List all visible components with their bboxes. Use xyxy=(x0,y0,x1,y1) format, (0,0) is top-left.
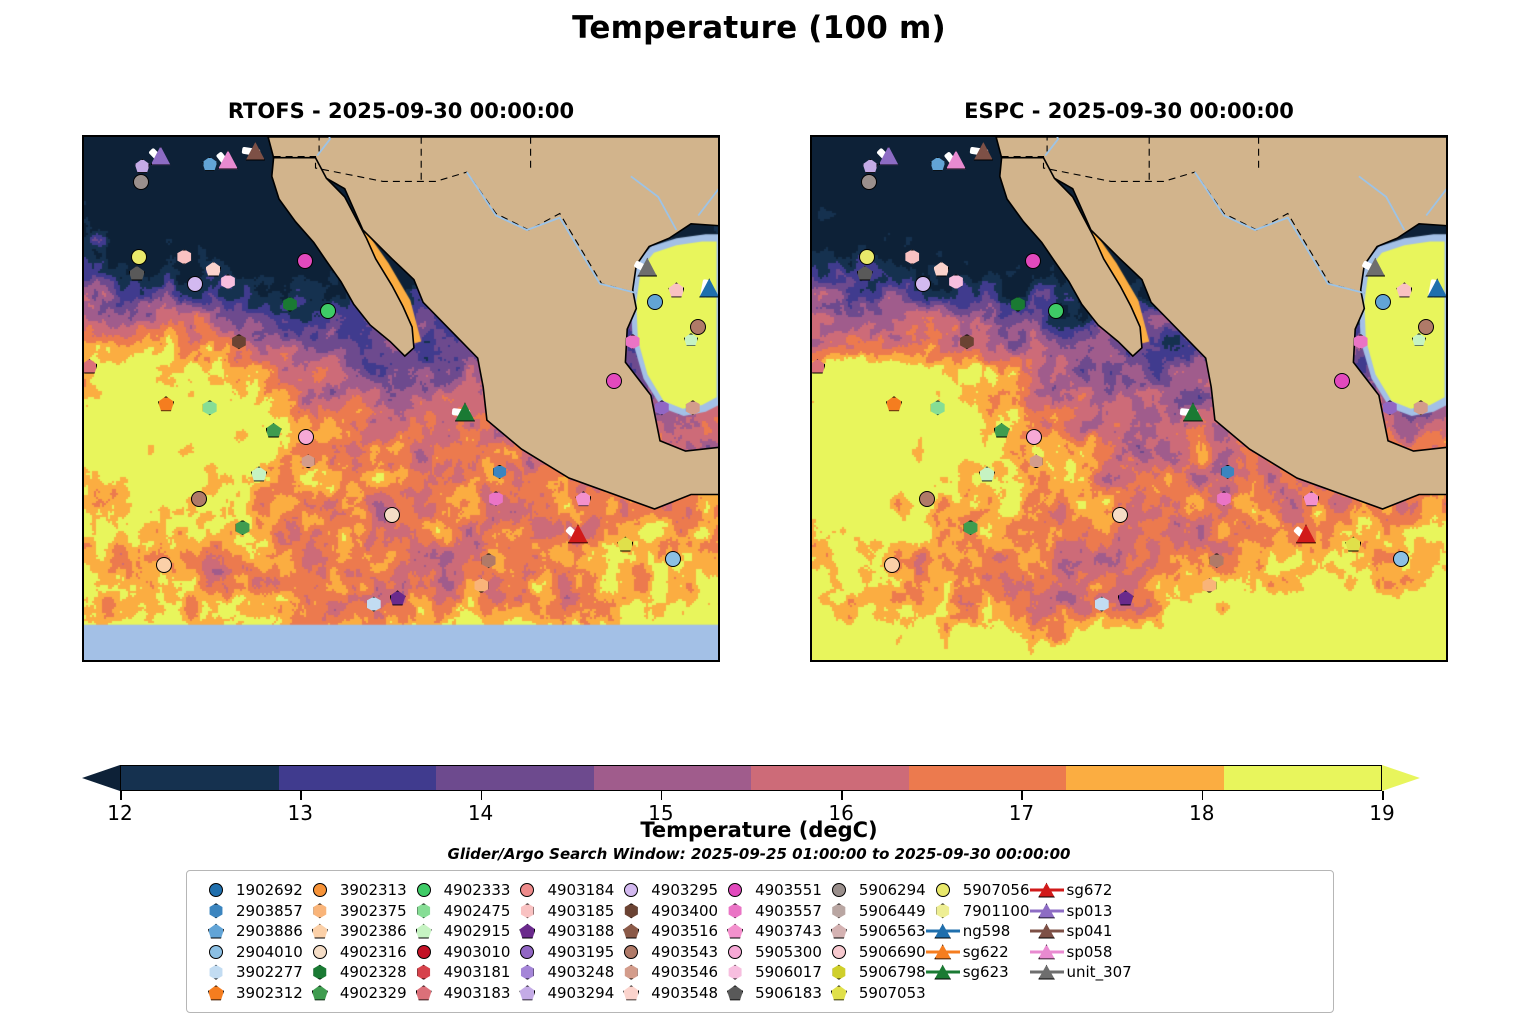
marker-glyph-hex xyxy=(520,903,535,918)
legend-item-sg623[interactable]: sg623 xyxy=(926,962,1030,983)
marker-glyph-circle xyxy=(728,945,742,959)
legend-marker-4903743-icon xyxy=(718,921,752,941)
ytick-minor xyxy=(1446,292,1448,293)
xtick-minor xyxy=(239,135,240,137)
xtick-minor xyxy=(348,660,349,662)
colorbar-over-arrow xyxy=(1382,765,1420,791)
map-marker-5906294[interactable] xyxy=(861,174,877,190)
legend-item-sp041[interactable]: sp041 xyxy=(1030,921,1132,942)
xtick-minor xyxy=(695,660,696,662)
xtick-major xyxy=(585,660,587,662)
ytick-minor xyxy=(1446,478,1448,479)
xtick-major xyxy=(676,660,678,662)
ytick-minor xyxy=(718,540,720,541)
ytick-major xyxy=(82,313,84,315)
xtick-minor xyxy=(985,660,986,662)
legend-label-5906017: 5906017 xyxy=(752,963,822,981)
xtick-minor xyxy=(1386,135,1387,137)
legend-label-4903546: 4903546 xyxy=(648,963,718,981)
legend-item-4902329[interactable]: 4902329 xyxy=(303,983,407,1004)
legend-label-unit_307: unit_307 xyxy=(1064,963,1132,981)
legend-marker-4902328-icon xyxy=(303,962,337,982)
xtick-minor xyxy=(239,660,240,662)
xtick-minor xyxy=(1350,135,1351,137)
xtick-minor xyxy=(1095,135,1096,137)
marker-glyph-hex xyxy=(728,965,743,980)
legend-label-3902313: 3902313 xyxy=(337,881,407,899)
ytick-minor xyxy=(718,168,720,169)
legend-marker-3902375-icon xyxy=(303,901,337,921)
marker-glyph-hex xyxy=(624,965,639,980)
legend-item-4903248[interactable]: 4903248 xyxy=(510,962,614,983)
xtick-minor xyxy=(275,135,276,137)
xtick-minor xyxy=(294,660,295,662)
xtick-minor xyxy=(148,135,149,137)
marker-glyph-pent xyxy=(727,924,743,939)
figure-title: Temperature (100 m) xyxy=(0,10,1518,46)
ytick-minor xyxy=(1446,168,1448,169)
map-marker-4903543b[interactable] xyxy=(690,319,706,335)
xtick-minor xyxy=(604,660,605,662)
legend-item-2904010[interactable]: 2904010 xyxy=(199,942,303,963)
legend-item-4903516[interactable]: 4903516 xyxy=(614,921,718,942)
legend-marker-4903294-icon xyxy=(510,983,544,1003)
xtick-minor xyxy=(894,135,895,137)
legend-label-1902692: 1902692 xyxy=(233,881,303,899)
geography-overlay xyxy=(84,137,718,660)
map-marker-3902386[interactable] xyxy=(884,557,900,573)
legend-item-3902277[interactable]: 3902277 xyxy=(199,962,303,983)
legend-item-5906017[interactable]: 5906017 xyxy=(718,962,822,983)
legend-marker-4903557-icon xyxy=(718,901,752,921)
legend-item-sp013[interactable]: sp013 xyxy=(1030,901,1132,922)
legend-item-5906294[interactable]: 5906294 xyxy=(822,880,926,901)
ytick-minor xyxy=(82,354,84,355)
ytick-minor xyxy=(1446,395,1448,396)
xtick-minor xyxy=(713,660,714,662)
map-marker-2903857b[interactable] xyxy=(647,294,663,310)
legend-item-1902692[interactable]: 1902692 xyxy=(199,880,303,901)
legend-item-4903188[interactable]: 4903188 xyxy=(510,921,614,942)
marker-glyph-pent xyxy=(519,985,535,1000)
map-marker-4902333[interactable] xyxy=(1048,303,1064,319)
xtick-major xyxy=(1313,660,1315,662)
ytick-minor xyxy=(810,375,812,376)
marker-glyph-circle xyxy=(832,945,846,959)
xtick-minor xyxy=(1277,660,1278,662)
xtick-minor xyxy=(385,660,386,662)
ytick-minor xyxy=(1446,457,1448,458)
legend-item-4903295[interactable]: 4903295 xyxy=(614,880,718,901)
legend-item-4903743[interactable]: 4903743 xyxy=(718,921,822,942)
map-marker-4902316[interactable] xyxy=(1112,507,1128,523)
ytick-minor xyxy=(718,499,720,500)
ytick-minor xyxy=(718,292,720,293)
legend-label-4902328: 4902328 xyxy=(337,963,407,981)
legend-item-4902316[interactable]: 4902316 xyxy=(303,942,407,963)
legend-item-2903886[interactable]: 2903886 xyxy=(199,921,303,942)
marker-glyph-pent xyxy=(727,985,743,1000)
map-marker-2904010[interactable] xyxy=(665,551,681,567)
map-marker-4903543[interactable] xyxy=(919,491,935,507)
xtick-minor xyxy=(1259,660,1260,662)
legend-label-2903886: 2903886 xyxy=(233,922,303,940)
legend-item-4903010[interactable]: 4903010 xyxy=(407,942,511,963)
legend-marker-1902692-icon xyxy=(199,880,233,900)
legend-marker-2904010-icon xyxy=(199,942,233,962)
ytick-minor xyxy=(82,437,84,438)
xtick-minor xyxy=(458,660,459,662)
marker-glyph-pent xyxy=(831,924,847,939)
ytick-major xyxy=(718,519,720,521)
colorbar: 1213141516171819 xyxy=(82,765,1420,791)
xtick-major xyxy=(221,135,223,137)
map-marker-5905300[interactable] xyxy=(298,429,314,445)
legend-item-4903184[interactable]: 4903184 xyxy=(510,880,614,901)
ytick-minor xyxy=(1446,581,1448,582)
colorbar-band-3 xyxy=(594,766,752,790)
legend-item-3902375[interactable]: 3902375 xyxy=(303,901,407,922)
xtick-minor xyxy=(695,135,696,137)
ytick-minor xyxy=(718,333,720,334)
ytick-minor xyxy=(810,457,812,458)
xtick-major xyxy=(949,660,951,662)
marker-glyph-circle xyxy=(313,883,327,897)
legend-label-5906563: 5906563 xyxy=(856,922,926,940)
legend-label-sp013: sp013 xyxy=(1064,902,1113,920)
xtick-major xyxy=(676,135,678,137)
legend-item-4902915[interactable]: 4902915 xyxy=(407,921,511,942)
ytick-minor xyxy=(82,499,84,500)
legend-item-7901100[interactable]: 7901100 xyxy=(926,901,1030,922)
ytick-major xyxy=(718,313,720,315)
ytick-minor xyxy=(82,251,84,252)
legend-item-sp058[interactable]: sp058 xyxy=(1030,942,1132,963)
xtick-minor xyxy=(967,135,968,137)
marker-glyph-pent xyxy=(416,924,432,939)
xtick-minor xyxy=(1167,660,1168,662)
ytick-minor xyxy=(810,581,812,582)
ytick-minor xyxy=(1446,251,1448,252)
xtick-minor xyxy=(640,660,641,662)
map-marker-4903543b[interactable] xyxy=(1418,319,1434,335)
legend-marker-4903543-icon xyxy=(614,942,648,962)
xtick-minor xyxy=(166,660,167,662)
xtick-major xyxy=(312,660,314,662)
marker-glyph-pent xyxy=(208,924,224,939)
legend-item-5906690[interactable]: 5906690 xyxy=(822,942,926,963)
xtick-minor xyxy=(1167,135,1168,137)
ytick-minor xyxy=(810,168,812,169)
legend-item-4903400[interactable]: 4903400 xyxy=(614,901,718,922)
legend-item-4903294[interactable]: 4903294 xyxy=(510,983,614,1004)
ytick-minor xyxy=(810,251,812,252)
legend-item-unit_307[interactable]: unit_307 xyxy=(1030,962,1132,983)
xtick-minor xyxy=(512,660,513,662)
legend-label-sg623: sg623 xyxy=(960,963,1009,981)
legend-item-3902312[interactable]: 3902312 xyxy=(199,983,303,1004)
map-marker-2903857b[interactable] xyxy=(1375,294,1391,310)
legend-marker-sg672-icon xyxy=(1030,880,1064,900)
map-marker-4902333[interactable] xyxy=(320,303,336,319)
legend-label-4903185: 4903185 xyxy=(544,902,614,920)
legend-marker-sg623-icon xyxy=(926,962,960,982)
legend-marker-4903181-icon xyxy=(407,962,441,982)
legend-label-4903181: 4903181 xyxy=(441,963,511,981)
legend-marker-4903551-icon xyxy=(718,880,752,900)
marker-glyph-hex xyxy=(520,965,535,980)
xtick-minor xyxy=(1003,135,1004,137)
legend-marker-5906563-icon xyxy=(822,921,856,941)
legend-marker-2903857-icon xyxy=(199,901,233,921)
ytick-minor xyxy=(1446,230,1448,231)
ytick-major xyxy=(810,416,812,418)
map-marker-3902386[interactable] xyxy=(156,557,172,573)
map-marker-4903295[interactable] xyxy=(187,276,203,292)
ytick-minor xyxy=(718,271,720,272)
xtick-minor xyxy=(1332,660,1333,662)
legend-item-4903543[interactable]: 4903543 xyxy=(614,942,718,963)
legend-item-5906798[interactable]: 5906798 xyxy=(822,962,926,983)
marker-glyph-circle xyxy=(417,883,431,897)
legend-column-0: 1902692290385729038862904010390227739023… xyxy=(199,880,303,1003)
legend-item-ng598[interactable]: ng598 xyxy=(926,921,1030,942)
ytick-minor xyxy=(1446,602,1448,603)
legend-item-sg672[interactable]: sg672 xyxy=(1030,880,1132,901)
marker-glyph-pent xyxy=(312,924,328,939)
legend-item-2903857[interactable]: 2903857 xyxy=(199,901,303,922)
legend-item-5906183[interactable]: 5906183 xyxy=(718,983,822,1004)
xtick-minor xyxy=(111,660,112,662)
legend-marker-5905300-icon xyxy=(718,942,752,962)
marker-glyph-circle xyxy=(728,883,742,897)
xtick-minor xyxy=(476,135,477,137)
legend-item-4903183[interactable]: 4903183 xyxy=(407,983,511,1004)
map-marker-4903551[interactable] xyxy=(297,253,313,269)
legend-item-5905300[interactable]: 5905300 xyxy=(718,942,822,963)
marker-glyph-pent xyxy=(416,985,432,1000)
xtick-minor xyxy=(184,660,185,662)
legend-item-4903195[interactable]: 4903195 xyxy=(510,942,614,963)
marker-glyph-hex xyxy=(831,903,846,918)
ytick-major xyxy=(810,623,812,625)
marker-glyph-pent xyxy=(831,985,847,1000)
ytick-minor xyxy=(1446,437,1448,438)
map-marker-5905300[interactable] xyxy=(1026,429,1042,445)
ytick-minor xyxy=(1446,375,1448,376)
legend-label-4903557: 4903557 xyxy=(752,902,822,920)
legend-label-4903294: 4903294 xyxy=(544,984,614,1002)
map-marker-4903543[interactable] xyxy=(191,491,207,507)
xtick-minor xyxy=(294,135,295,137)
legend-marker-7901100-icon xyxy=(926,901,960,921)
legend-column-2: 4902333490247549029154903010490318149031… xyxy=(407,880,511,1003)
legend-label-sg622: sg622 xyxy=(960,943,1009,961)
legend-item-5906449[interactable]: 5906449 xyxy=(822,901,926,922)
legend-label-4903248: 4903248 xyxy=(544,963,614,981)
ytick-minor xyxy=(810,437,812,438)
colorbar-band-0 xyxy=(121,766,279,790)
map-marker-4903551[interactable] xyxy=(1025,253,1041,269)
ytick-minor xyxy=(718,354,720,355)
xtick-minor xyxy=(622,135,623,137)
xtick-minor xyxy=(330,660,331,662)
legend-marker-ng598-icon xyxy=(926,921,960,941)
map-marker-5907056[interactable] xyxy=(859,249,875,265)
legend: 1902692290385729038862904010390227739023… xyxy=(186,870,1334,1013)
xtick-minor xyxy=(567,135,568,137)
xtick-minor xyxy=(1076,660,1077,662)
map-marker-4902316[interactable] xyxy=(384,507,400,523)
legend-label-3902375: 3902375 xyxy=(337,902,407,920)
legend-label-4903010: 4903010 xyxy=(441,943,511,961)
marker-glyph-circle xyxy=(832,883,846,897)
xtick-minor xyxy=(549,660,550,662)
xtick-minor xyxy=(1240,660,1241,662)
legend-label-4903295: 4903295 xyxy=(648,881,718,899)
map-rtofs[interactable]: 125°W120°W115°W110°W105°W100°W95°W10°N15… xyxy=(82,135,720,662)
legend-marker-5906017-icon xyxy=(718,962,752,982)
ytick-minor xyxy=(810,499,812,500)
xtick-minor xyxy=(1386,660,1387,662)
legend-marker-3902312-icon xyxy=(199,983,233,1003)
legend-label-7901100: 7901100 xyxy=(960,902,1030,920)
xtick-minor xyxy=(839,660,840,662)
xtick-minor xyxy=(604,135,605,137)
ytick-minor xyxy=(718,375,720,376)
map-marker-4903295[interactable] xyxy=(915,276,931,292)
xtick-minor xyxy=(1058,660,1059,662)
legend-marker-4902316-icon xyxy=(303,942,337,962)
xtick-major xyxy=(403,660,405,662)
marker-glyph-hex xyxy=(624,903,639,918)
legend-marker-3902277-icon xyxy=(199,962,233,982)
ytick-minor xyxy=(810,540,812,541)
legend-item-4903546[interactable]: 4903546 xyxy=(614,962,718,983)
xtick-minor xyxy=(531,135,532,137)
ytick-minor xyxy=(82,292,84,293)
ytick-minor xyxy=(810,147,812,148)
ytick-minor xyxy=(82,189,84,190)
ytick-minor xyxy=(82,375,84,376)
marker-glyph-hex xyxy=(416,903,431,918)
legend-marker-3902313-icon xyxy=(303,880,337,900)
xtick-major xyxy=(1040,135,1042,137)
legend-item-4903548[interactable]: 4903548 xyxy=(614,983,718,1004)
ytick-minor xyxy=(810,395,812,396)
xtick-minor xyxy=(421,135,422,137)
legend-marker-4903546-icon xyxy=(614,962,648,982)
xtick-minor xyxy=(257,135,258,137)
xtick-minor xyxy=(148,660,149,662)
xtick-minor xyxy=(1149,660,1150,662)
map-marker-5907056[interactable] xyxy=(131,249,147,265)
legend-label-2904010: 2904010 xyxy=(233,943,303,961)
legend-marker-4902329-icon xyxy=(303,983,337,1003)
ytick-major xyxy=(1446,313,1448,315)
legend-item-4902475[interactable]: 4902475 xyxy=(407,901,511,922)
map-marker-5906294[interactable] xyxy=(133,174,149,190)
legend-marker-4903548-icon xyxy=(614,983,648,1003)
legend-item-4902333[interactable]: 4902333 xyxy=(407,880,511,901)
legend-label-ng598: ng598 xyxy=(960,922,1011,940)
ytick-minor xyxy=(82,581,84,582)
legend-label-5907053: 5907053 xyxy=(856,984,926,1002)
legend-label-4903195: 4903195 xyxy=(544,943,614,961)
legend-label-3902277: 3902277 xyxy=(233,963,303,981)
legend-item-4903181[interactable]: 4903181 xyxy=(407,962,511,983)
ytick-major xyxy=(1446,519,1448,521)
xtick-minor xyxy=(549,135,550,137)
xtick-minor xyxy=(531,660,532,662)
xtick-minor xyxy=(184,135,185,137)
ytick-minor xyxy=(82,643,84,644)
xtick-minor xyxy=(1113,135,1114,137)
xtick-major xyxy=(1222,660,1224,662)
map-espc[interactable]: 125°W120°W115°W110°W105°W100°W95°W10°N15… xyxy=(810,135,1448,662)
xtick-minor xyxy=(930,660,931,662)
xtick-minor xyxy=(93,135,94,137)
marker-glyph-hex xyxy=(209,903,224,918)
legend-item-4903551[interactable]: 4903551 xyxy=(718,880,822,901)
ytick-minor xyxy=(718,437,720,438)
map-marker-2904010[interactable] xyxy=(1393,551,1409,567)
xtick-minor xyxy=(1368,135,1369,137)
legend-item-3902386[interactable]: 3902386 xyxy=(303,921,407,942)
legend-marker-4903184-icon xyxy=(510,880,544,900)
ytick-minor xyxy=(810,561,812,562)
colorbar-band-4 xyxy=(751,766,909,790)
ytick-minor xyxy=(810,602,812,603)
legend-item-sg622[interactable]: sg622 xyxy=(926,942,1030,963)
xtick-minor xyxy=(821,660,822,662)
ytick-minor xyxy=(810,643,812,644)
legend-item-4903557[interactable]: 4903557 xyxy=(718,901,822,922)
legend-item-4903185[interactable]: 4903185 xyxy=(510,901,614,922)
legend-item-5907056[interactable]: 5907056 xyxy=(926,880,1030,901)
legend-column-6: 5906294590644959065635906690590679859070… xyxy=(822,880,926,1003)
xtick-minor xyxy=(1022,660,1023,662)
legend-item-3902313[interactable]: 3902313 xyxy=(303,880,407,901)
ytick-minor xyxy=(82,395,84,396)
xtick-major xyxy=(1131,660,1133,662)
legend-marker-4903185-icon xyxy=(510,901,544,921)
xtick-minor xyxy=(257,660,258,662)
ytick-major xyxy=(1446,416,1448,418)
legend-label-4902333: 4902333 xyxy=(441,881,511,899)
xtick-major xyxy=(130,135,132,137)
map-marker-4903551b[interactable] xyxy=(1334,373,1350,389)
legend-label-5905300: 5905300 xyxy=(752,943,822,961)
xtick-minor xyxy=(348,135,349,137)
xtick-major xyxy=(1040,660,1042,662)
colorbar-band-7 xyxy=(1224,766,1382,790)
xtick-minor xyxy=(1332,135,1333,137)
ytick-minor xyxy=(1446,561,1448,562)
legend-item-4902328[interactable]: 4902328 xyxy=(303,962,407,983)
ytick-minor xyxy=(718,602,720,603)
legend-item-5906563[interactable]: 5906563 xyxy=(822,921,926,942)
marker-glyph-hex xyxy=(312,903,327,918)
ytick-minor xyxy=(718,561,720,562)
xtick-minor xyxy=(876,660,877,662)
legend-label-4902329: 4902329 xyxy=(337,984,407,1002)
legend-item-5907053[interactable]: 5907053 xyxy=(822,983,926,1004)
ytick-minor xyxy=(718,230,720,231)
legend-marker-4903516-icon xyxy=(614,921,648,941)
map-marker-4903551b[interactable] xyxy=(606,373,622,389)
xtick-minor xyxy=(1204,660,1205,662)
